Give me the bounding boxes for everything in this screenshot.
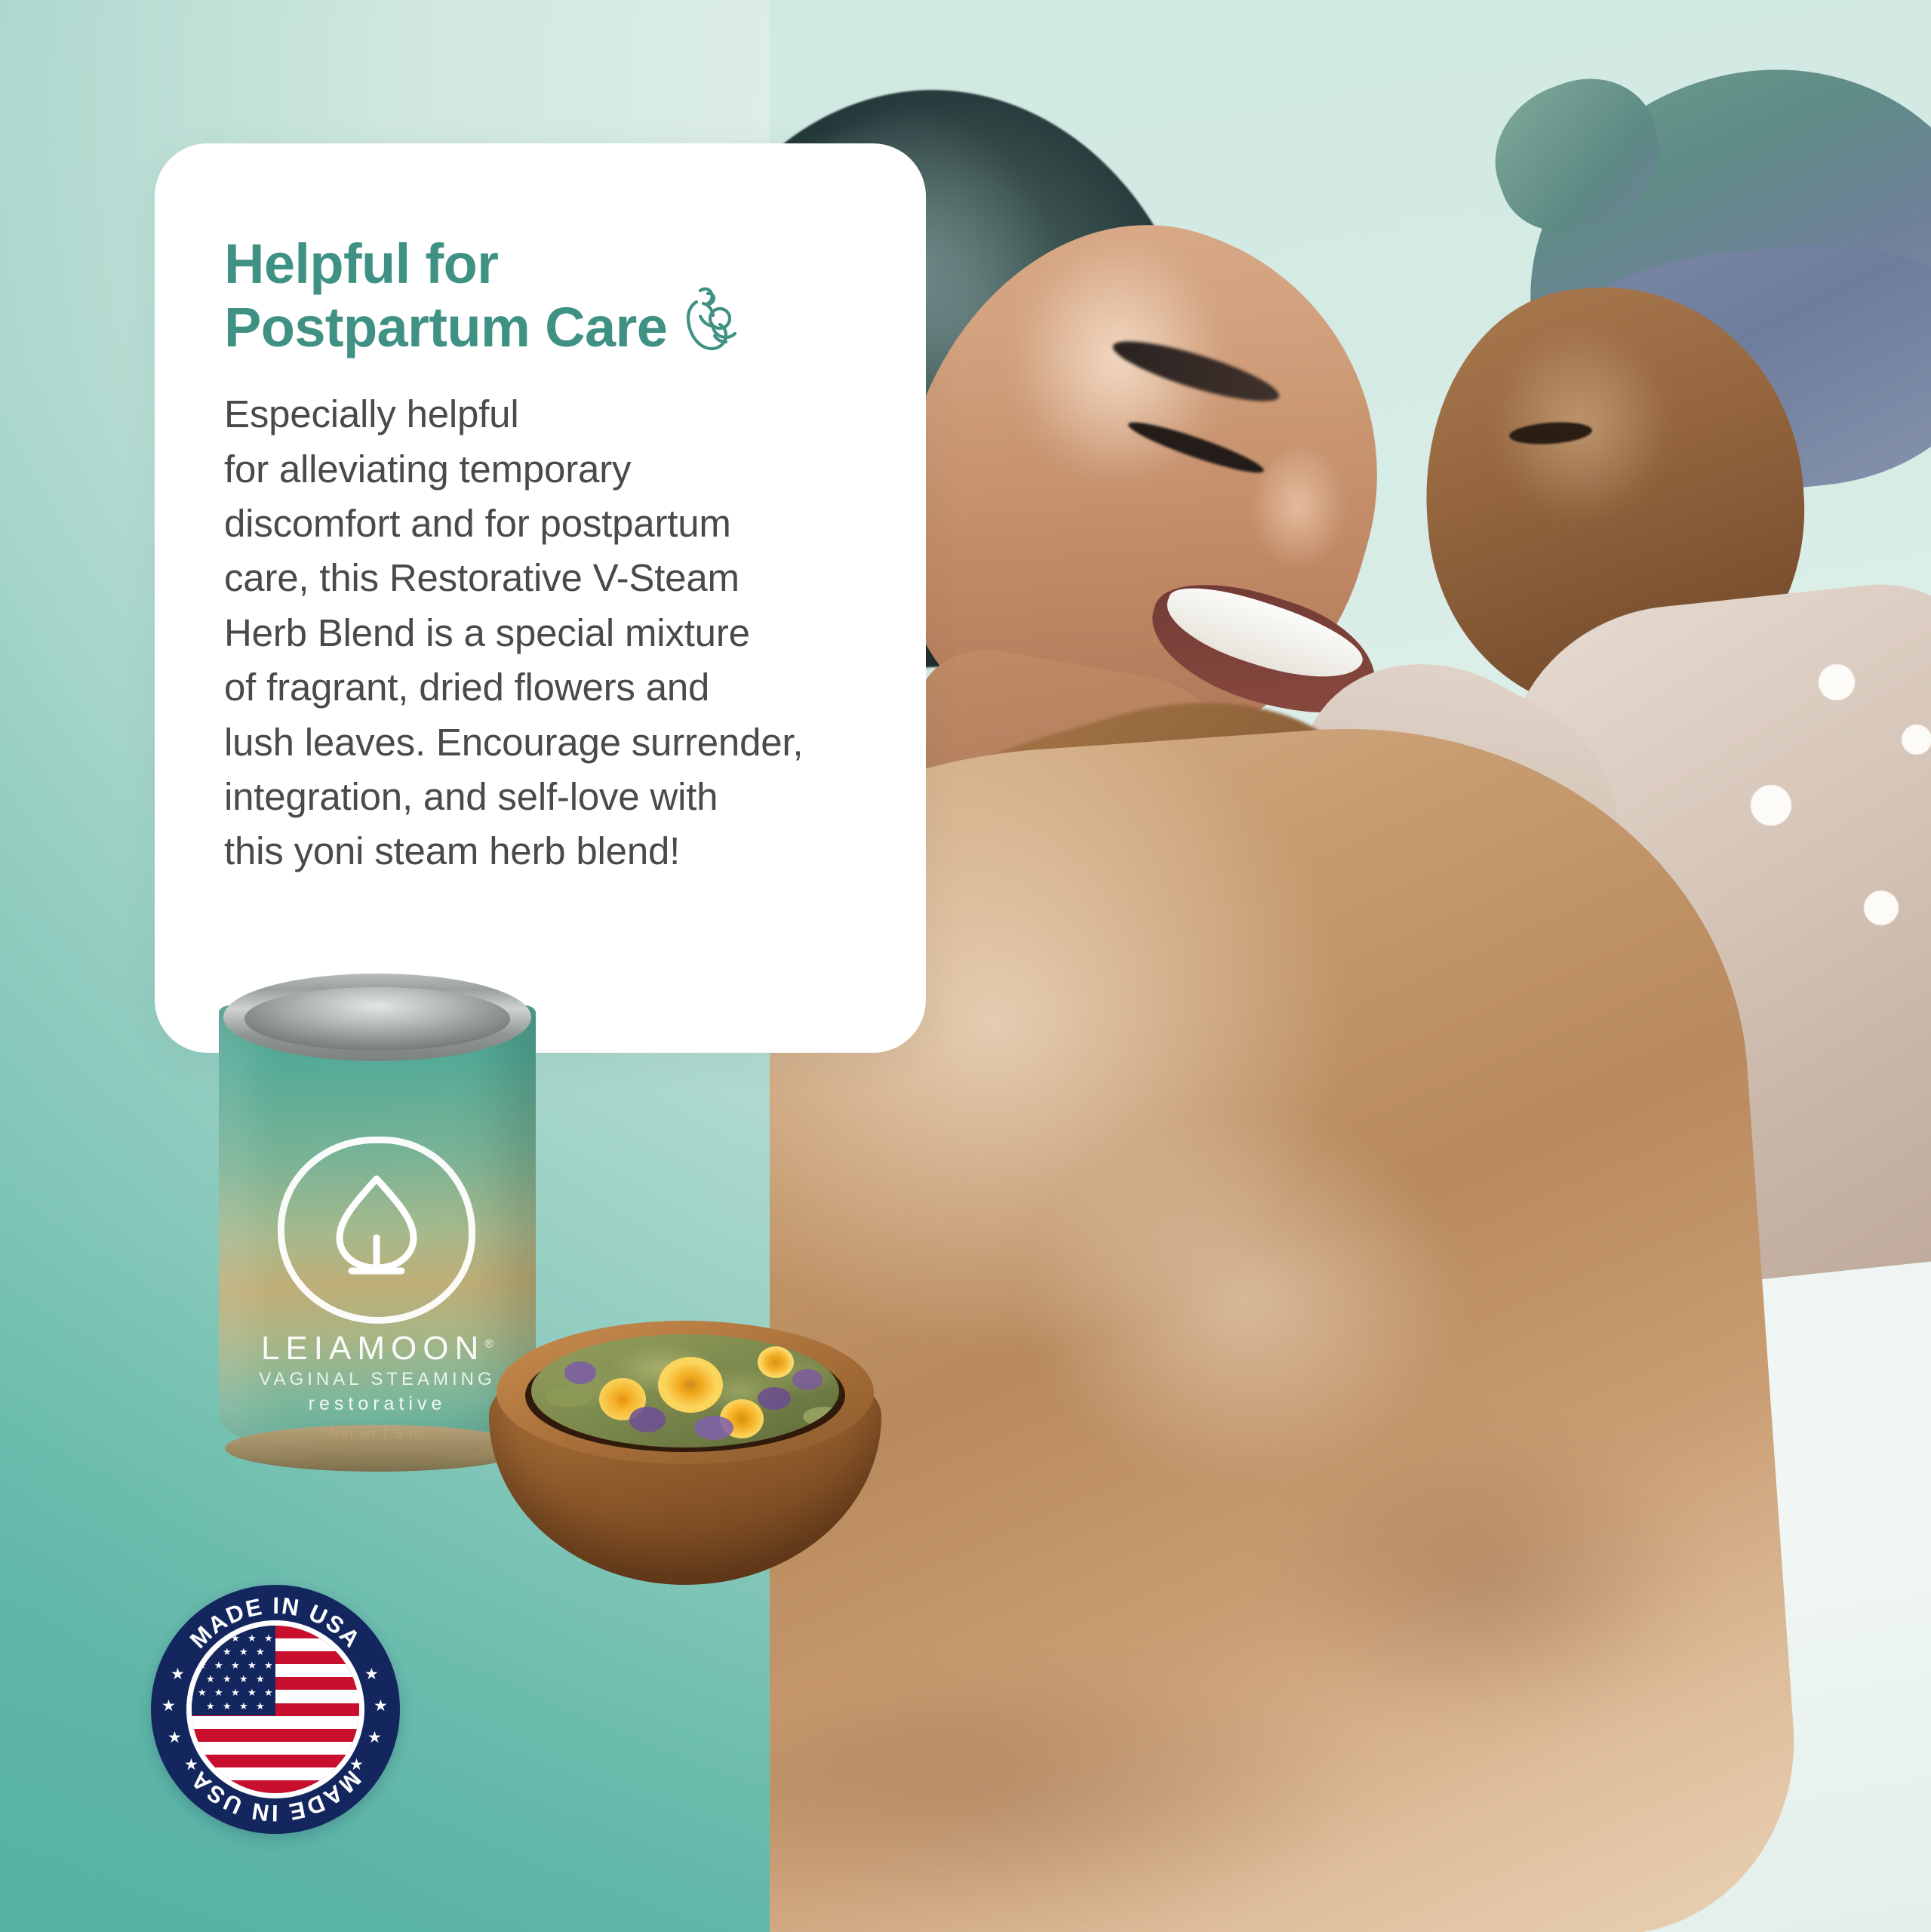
tin-brand-name: LEIAMOON® (219, 1330, 536, 1367)
calendula-flower (658, 1357, 723, 1413)
flag-star: ★ (198, 1633, 207, 1643)
flag-star: ★ (214, 1687, 223, 1697)
heading-row: Helpful for Postpartum Care (224, 232, 856, 358)
flag-star: ★ (248, 1633, 257, 1643)
flag-stripe (192, 1729, 359, 1742)
mother-and-baby-icon (678, 281, 736, 354)
flag-star: ★ (264, 1633, 273, 1643)
dried-petal (564, 1361, 596, 1384)
body-paragraph: Especially helpful for alleviating tempo… (224, 387, 856, 879)
flag-star: ★ (231, 1660, 240, 1670)
mother-face-highlight (996, 249, 1268, 566)
badge-star: ★ (171, 1666, 185, 1682)
dried-petal (792, 1369, 823, 1390)
baby-face-highlight (1479, 325, 1705, 574)
flag-stripe (192, 1780, 359, 1793)
flag-star: ★ (248, 1660, 257, 1670)
tin-rim-inner (244, 987, 510, 1051)
made-in-usa-badge: MADE IN USA MADE IN USA ★ ★ ★ ★ ★ ★ ★ ★ … (151, 1585, 400, 1834)
flag-star: ★ (206, 1701, 215, 1711)
flag-star: ★ (239, 1674, 248, 1684)
flag-star: ★ (223, 1647, 232, 1657)
flag-star: ★ (256, 1647, 265, 1657)
calendula-flower (758, 1346, 794, 1378)
tin-brand-text: LEIAMOON (261, 1330, 484, 1367)
flag-star: ★ (198, 1660, 207, 1670)
product-tin: LEIAMOON® VAGINAL STEAMING restorative N… (219, 974, 536, 1472)
tin-category: VAGINAL STEAMING (219, 1369, 536, 1390)
badge-star: ★ (364, 1666, 379, 1682)
flag-star: ★ (214, 1633, 223, 1643)
flag-star: ★ (198, 1687, 207, 1697)
flag-star: ★ (206, 1674, 215, 1684)
flag-star: ★ (231, 1633, 240, 1643)
dried-leaf (803, 1407, 839, 1426)
tin-base (225, 1425, 530, 1472)
flag-star: ★ (248, 1687, 257, 1697)
info-card: Helpful for Postpartum Care Especially h… (155, 143, 926, 1053)
flag-star: ★ (223, 1674, 232, 1684)
badge-star: ★ (367, 1730, 382, 1746)
tin-variant: restorative (219, 1393, 536, 1415)
flag-star: ★ (206, 1647, 215, 1657)
dried-petal (694, 1416, 733, 1440)
flag-star: ★ (264, 1687, 273, 1697)
flag-star: ★ (239, 1701, 248, 1711)
flag-star: ★ (256, 1701, 265, 1711)
dried-petal (629, 1407, 666, 1432)
flag-star: ★ (256, 1674, 265, 1684)
baby-outfit-dot (1902, 724, 1931, 755)
flag-star: ★ (214, 1660, 223, 1670)
baby-outfit-dot (1819, 664, 1855, 700)
flag-star: ★ (223, 1701, 232, 1711)
badge-star: ★ (374, 1698, 388, 1714)
mother-nose (1253, 445, 1366, 596)
flag-canton: ★ ★ ★ ★ ★ ★ ★ ★ ★ ★ ★ ★ ★ ★ ★ ★ ★ ★ ★ ★ … (192, 1626, 275, 1715)
wooden-bowl-with-dried-herbs (489, 1313, 881, 1600)
baby-outfit-dot (1864, 891, 1899, 925)
flag-star: ★ (264, 1660, 273, 1670)
us-flag-icon: ★ ★ ★ ★ ★ ★ ★ ★ ★ ★ ★ ★ ★ ★ ★ ★ ★ ★ ★ ★ … (186, 1620, 364, 1798)
dried-leaf (546, 1387, 592, 1407)
dried-herb-blend (531, 1334, 839, 1447)
info-card-content: Helpful for Postpartum Care Especially h… (155, 143, 926, 879)
flag-star: ★ (239, 1647, 248, 1657)
mother-holding-baby-photo (770, 0, 1931, 1932)
badge-star: ★ (168, 1730, 182, 1746)
baby-outfit-dot (1751, 785, 1791, 826)
flag-stripe (192, 1755, 359, 1767)
flag-star: ★ (231, 1687, 240, 1697)
badge-star: ★ (161, 1698, 176, 1714)
leaf-droplet-icon (332, 1171, 421, 1284)
page-title: Helpful for Postpartum Care (224, 232, 667, 358)
dried-petal (758, 1387, 791, 1410)
